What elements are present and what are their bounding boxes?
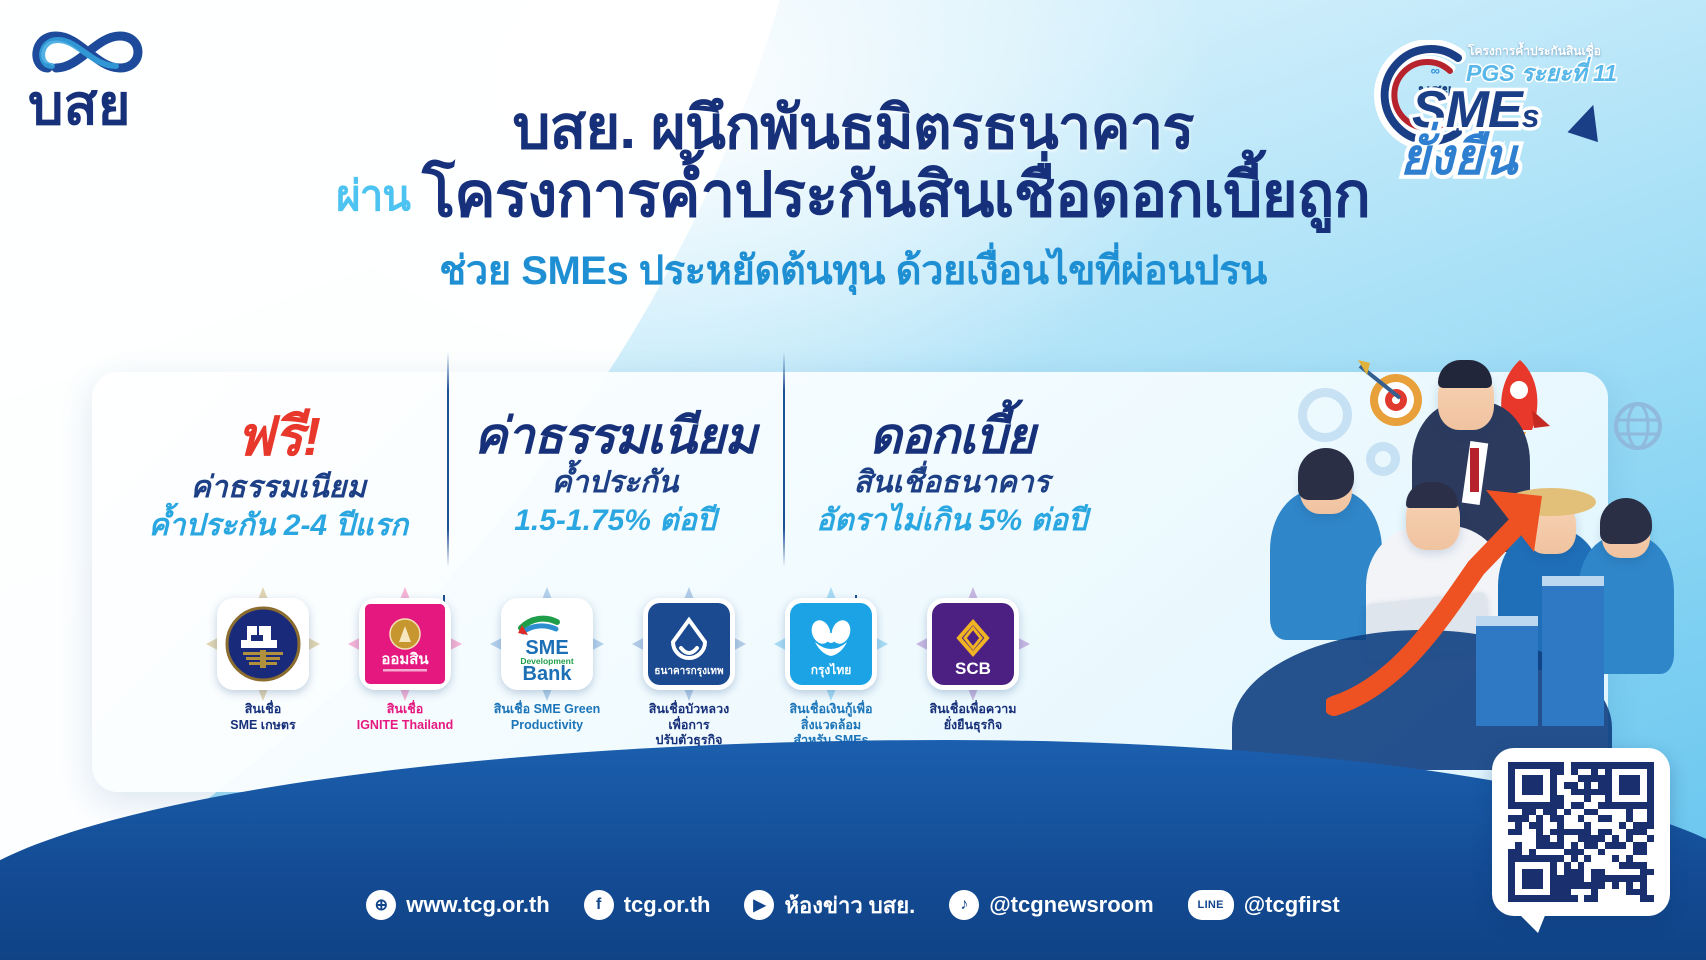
scb-logo-text: SCB: [955, 659, 991, 678]
bank-label-line: สินเชื่อเพื่อความ: [910, 702, 1036, 718]
scb-bank-icon: SCB: [927, 598, 1019, 690]
benefit-detail: ค้ำประกัน 2-4 ปีแรก: [120, 508, 437, 544]
bangkok-bank-logo-text: ธนาคารกรุงเทพ: [654, 666, 724, 677]
krungthai-logo-text: กรุงไทย: [811, 662, 852, 678]
svg-text:Bank: Bank: [523, 663, 573, 685]
illustration-people: [1122, 330, 1682, 800]
globe-icon: [1608, 396, 1668, 456]
bank-item-sme-development[interactable]: SME Development Bank สินเชื่อ SME Green …: [484, 598, 610, 749]
bank-label: สินเชื่อบัวหลวง เพื่อการ ปรับตัวธุรกิจ: [626, 702, 752, 749]
line-icon: LINE: [1188, 890, 1234, 920]
youtube-icon: ▶: [744, 890, 774, 920]
bank-petal: ธนาคารกรุงเทพ: [643, 598, 735, 690]
benefit-column-fee-waiver: ฟรี! ค่าธรรมเนียม ค้ำประกัน 2-4 ปีแรก: [110, 410, 447, 600]
bank-label: สินเชื่อ SME เกษตร: [200, 702, 326, 733]
badge-infinity-icon: ∞: [1400, 66, 1470, 76]
bank-petal: SCB: [927, 598, 1019, 690]
gear-icon: [1366, 442, 1400, 476]
benefit-rate: 1.5-1.75% ต่อปี: [457, 503, 774, 539]
bank-label-line: สินเชื่อ SME Green: [484, 702, 610, 718]
bank-label-line: สินเชื่อเงินกู้เพื่อ: [768, 702, 894, 718]
tiktok-icon: ♪: [949, 890, 979, 920]
bank-label-line: สินเชื่อ: [200, 702, 326, 718]
benefit-rate: อัตราไม่เกิน 5% ต่อปี: [793, 503, 1110, 539]
target-icon: [1354, 356, 1432, 436]
krungthai-bank-icon: กรุงไทย: [785, 598, 877, 690]
benefit-highlight: ฟรี!: [120, 410, 437, 464]
bank-label: สินเชื่อเพื่อความ ยั่งยืนธุรกิจ: [910, 702, 1036, 733]
benefit-column-guarantee-fee: ค่าธรรมเนียม ค้ำประกัน 1.5-1.75% ต่อปี: [447, 410, 784, 600]
bank-item-baac[interactable]: สินเชื่อ SME เกษตร: [200, 598, 326, 749]
benefit-title: ค่าธรรมเนียม: [120, 470, 437, 506]
bank-label-line: เพื่อการ: [626, 718, 752, 734]
benefit-title: ดอกเบี้ย: [793, 410, 1110, 463]
bank-label-line: Productivity: [484, 718, 610, 734]
bank-label-line: SME เกษตร: [200, 718, 326, 734]
headline-line-2: ผ่านโครงการค้ำประกันสินเชื่อดอกเบี้ยถูก: [0, 161, 1706, 230]
footer-label: tcg.or.th: [624, 892, 711, 918]
bank-label-line: สิ่งแวดล้อม: [768, 718, 894, 734]
benefit-column-interest: ดอกเบี้ย สินเชื่อธนาคาร อัตราไม่เกิน 5% …: [783, 410, 1120, 600]
bank-logos-row: สินเชื่อ SME เกษตร ออมสิน สิ: [200, 598, 1060, 749]
gear-icon: [1298, 388, 1352, 442]
footer-label: www.tcg.or.th: [406, 892, 549, 918]
benefits-row: ฟรี! ค่าธรรมเนียม ค้ำประกัน 2-4 ปีแรก ค่…: [110, 410, 1120, 600]
bank-petal: กรุงไทย: [785, 598, 877, 690]
gsb-bank-icon: ออมสิน: [359, 598, 451, 690]
bank-label: สินเชื่อ SME Green Productivity: [484, 702, 610, 733]
footer-item-line[interactable]: LINE @tcgfirst: [1188, 890, 1340, 920]
bank-item-gsb[interactable]: ออมสิน สินเชื่อ IGNITE Thailand: [342, 598, 468, 749]
headline-block: บสย. ผนึกพันธมิตรธนาคาร ผ่านโครงการค้ำปร…: [0, 96, 1706, 302]
headline-main: โครงการค้ำประกันสินเชื่อดอกเบี้ยถูก: [422, 161, 1370, 230]
benefit-title: ค่าธรรมเนียม: [457, 410, 774, 463]
bangkok-bank-icon: ธนาคารกรุงเทพ: [643, 598, 735, 690]
headline-prefix: ผ่าน: [336, 172, 410, 219]
infographic-canvas: บสย ∞ บสย โครงการค้ำประกันสินเชื่อ PGS ร…: [0, 0, 1706, 960]
footer-item-youtube[interactable]: ▶ ห้องข่าว บสย.: [744, 888, 915, 923]
benefit-subtitle: ค้ำประกัน: [457, 465, 774, 501]
bank-item-krungthai[interactable]: กรุงไทย สินเชื่อเงินกู้เพื่อ สิ่งแวดล้อม…: [768, 598, 894, 749]
globe-icon: ⊕: [366, 890, 396, 920]
bank-petal: ออมสิน: [359, 598, 451, 690]
footer-item-website[interactable]: ⊕ www.tcg.or.th: [366, 890, 549, 920]
bank-petal: SME Development Bank: [501, 598, 593, 690]
footer-social-bar: ⊕ www.tcg.or.th f tcg.or.th ▶ ห้องข่าว บ…: [0, 878, 1706, 932]
facebook-icon: f: [584, 890, 614, 920]
bank-item-scb[interactable]: SCB สินเชื่อเพื่อความ ยั่งยืนธุรกิจ: [910, 598, 1036, 749]
footer-item-tiktok[interactable]: ♪ @tcgnewsroom: [949, 890, 1153, 920]
footer-label: @tcgfirst: [1244, 892, 1340, 918]
sme-development-bank-icon: SME Development Bank: [501, 598, 593, 690]
gsb-logo-text: ออมสิน: [381, 650, 429, 668]
baac-bank-icon: [217, 598, 309, 690]
footer-label: @tcgnewsroom: [989, 892, 1153, 918]
footer-label: ห้องข่าว บสย.: [784, 888, 915, 923]
bank-label-line: IGNITE Thailand: [342, 718, 468, 734]
headline-subtitle: ช่วย SMEs ประหยัดต้นทุน ด้วยเงื่อนไขที่ผ…: [0, 238, 1706, 302]
bank-petal: [217, 598, 309, 690]
bank-label-line: ยั่งยืนธุรกิจ: [910, 718, 1036, 734]
bank-item-bangkok-bank[interactable]: ธนาคารกรุงเทพ สินเชื่อบัวหลวง เพื่อการ ป…: [626, 598, 752, 749]
growth-arrow-icon: [1326, 476, 1626, 726]
bank-label-line: สินเชื่อ: [342, 702, 468, 718]
bank-label-line: สินเชื่อบัวหลวง: [626, 702, 752, 718]
benefit-subtitle: สินเชื่อธนาคาร: [793, 465, 1110, 501]
headline-line-1: บสย. ผนึกพันธมิตรธนาคาร: [0, 96, 1706, 161]
footer-item-facebook[interactable]: f tcg.or.th: [584, 890, 711, 920]
bank-label: สินเชื่อ IGNITE Thailand: [342, 702, 468, 733]
